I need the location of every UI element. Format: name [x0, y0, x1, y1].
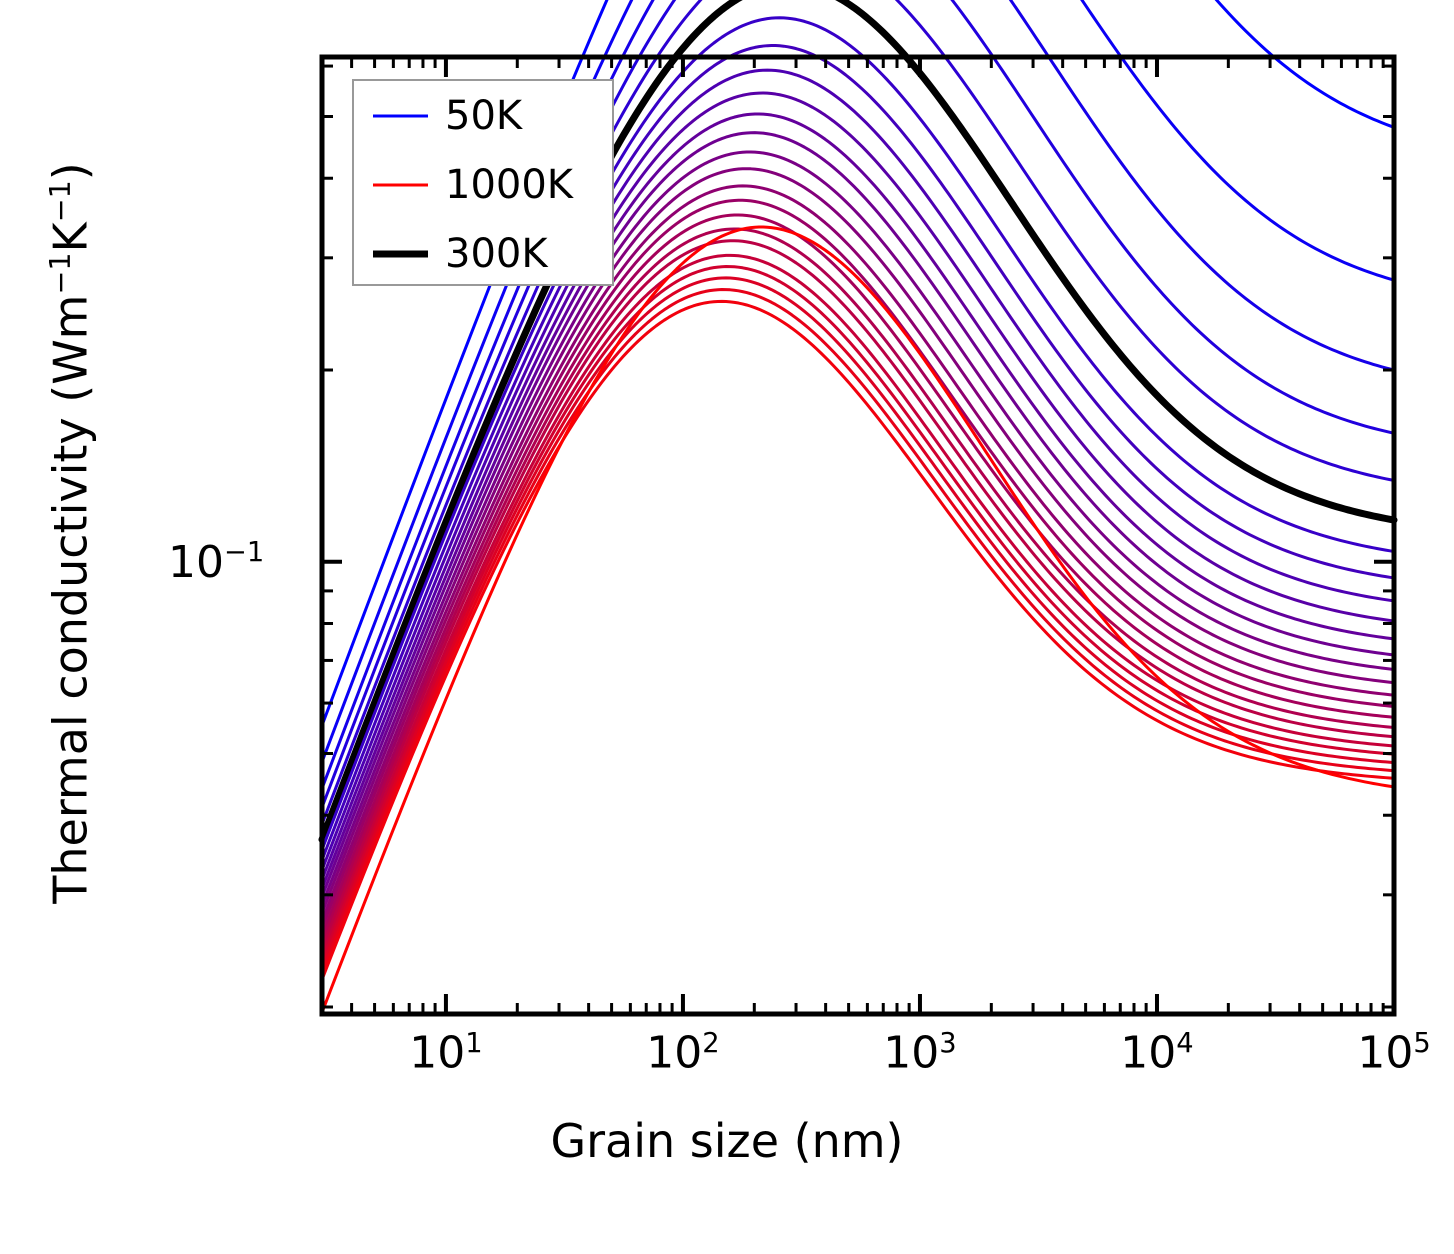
legend-label-0: 50K — [445, 96, 522, 136]
xtick-mantissa: 10 — [1120, 1028, 1176, 1079]
xtick-exponent: 4 — [1176, 1028, 1193, 1059]
legend-label-1: 1000K — [445, 165, 573, 205]
chart-canvas — [0, 0, 1454, 1254]
legend-item-1[interactable]: 1000K — [354, 150, 612, 219]
xtick-mantissa: 10 — [1357, 1028, 1413, 1079]
legend-label-2: 300K — [445, 234, 548, 274]
xtick-label-4: 105 — [1357, 1030, 1430, 1076]
legend-swatch-icon-2 — [372, 249, 429, 259]
xtick-exponent: 1 — [465, 1028, 482, 1059]
xtick-mantissa: 10 — [409, 1028, 465, 1079]
xtick-exponent: 5 — [1413, 1028, 1430, 1059]
chart-figure: 101 102 103 104 105 10−1 Grain size (nm)… — [0, 0, 1454, 1254]
ytick-label-0: 10−1 — [168, 539, 264, 585]
legend-swatch-icon-0 — [372, 111, 429, 121]
xtick-exponent: 2 — [702, 1028, 719, 1059]
xtick-label-1: 102 — [646, 1030, 719, 1076]
xtick-mantissa: 10 — [883, 1028, 939, 1079]
legend-item-2[interactable]: 300K — [354, 219, 612, 288]
xtick-exponent: 3 — [939, 1028, 956, 1059]
xtick-label-3: 104 — [1120, 1030, 1193, 1076]
ytick-exponent: −1 — [224, 537, 264, 568]
xtick-mantissa: 10 — [646, 1028, 702, 1079]
legend[interactable]: 50K 1000K 300K — [352, 79, 614, 286]
xtick-label-0: 101 — [409, 1030, 482, 1076]
x-axis-title: Grain size (nm) — [0, 1118, 1454, 1164]
legend-swatch-icon-1 — [372, 180, 429, 190]
legend-item-0[interactable]: 50K — [354, 81, 612, 150]
xtick-label-2: 103 — [883, 1030, 956, 1076]
curve-1200K — [322, 301, 1394, 979]
ytick-mantissa: 10 — [168, 537, 224, 588]
